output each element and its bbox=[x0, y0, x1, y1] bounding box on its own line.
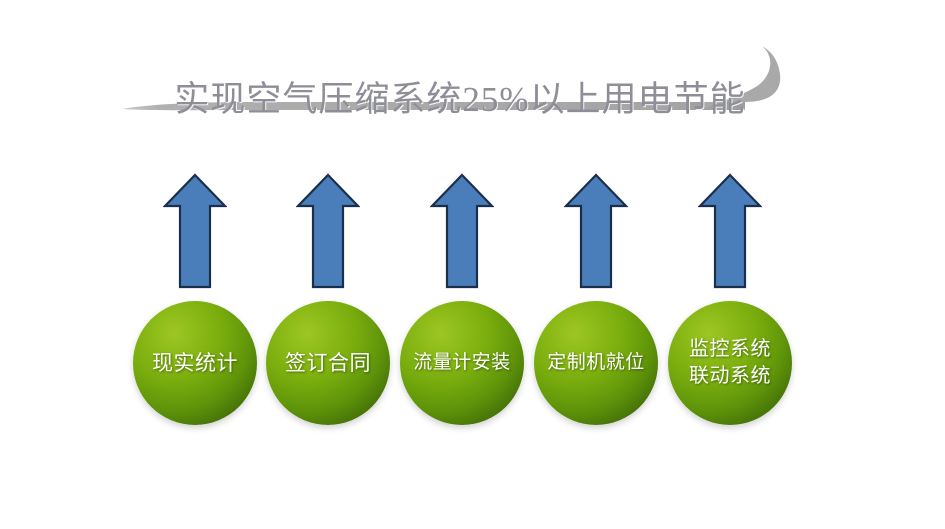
arrow-up-icon-2 bbox=[296, 172, 360, 290]
title-banner: 实现空气压缩系统25%以上用电节能 bbox=[0, 30, 945, 145]
process-step-4[interactable]: 定制机就位 bbox=[534, 301, 658, 425]
process-step-1[interactable]: 现实统计 bbox=[133, 301, 257, 425]
process-step-3-label: 流量计安装 bbox=[413, 350, 511, 376]
process-step-5-label: 监控系统 联动系统 bbox=[689, 336, 771, 390]
process-step-5-line-1: 监控系统 bbox=[689, 336, 771, 363]
process-step-5-line-2: 联动系统 bbox=[689, 363, 771, 390]
process-step-3[interactable]: 流量计安装 bbox=[400, 301, 524, 425]
process-step-4-label: 定制机就位 bbox=[547, 350, 645, 376]
arrows-row bbox=[0, 172, 945, 292]
slide-canvas: 实现空气压缩系统25%以上用电节能 现实统计 签订合同 流量计安装 bbox=[0, 0, 945, 529]
arrow-up-icon-1 bbox=[163, 172, 227, 290]
process-step-2-label: 签订合同 bbox=[285, 350, 371, 376]
process-step-1-label: 现实统计 bbox=[152, 350, 238, 376]
process-steps-row: 现实统计 签订合同 流量计安装 定制机就位 监控系统 联动系统 bbox=[0, 301, 945, 427]
arrow-up-icon-4 bbox=[564, 172, 628, 290]
process-step-2[interactable]: 签订合同 bbox=[266, 301, 390, 425]
arrow-up-icon-3 bbox=[430, 172, 494, 290]
arrow-up-icon-5 bbox=[698, 172, 762, 290]
process-step-5[interactable]: 监控系统 联动系统 bbox=[668, 301, 792, 425]
page-title: 实现空气压缩系统25%以上用电节能 bbox=[150, 78, 770, 122]
